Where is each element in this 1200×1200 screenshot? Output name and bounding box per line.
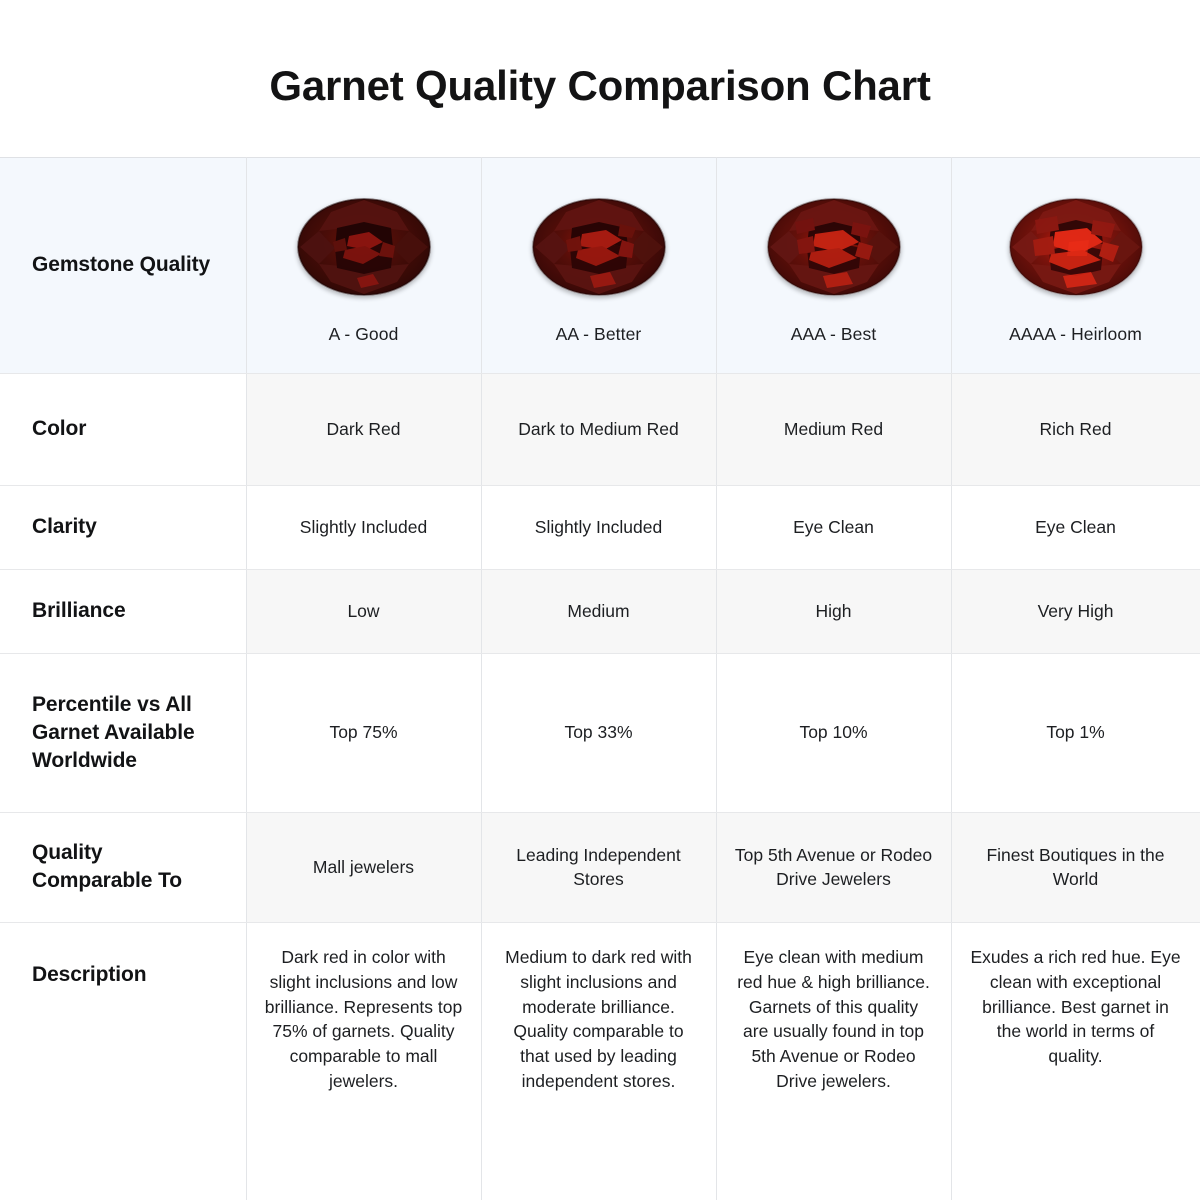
cell-brilliance-a: Low <box>246 569 481 653</box>
cell-comparable-aaa: Top 5th Avenue or Rodeo Drive Jewelers <box>716 812 951 922</box>
cell-comparable-aa: Leading Independent Stores <box>481 812 716 922</box>
cell-clarity-aa: Slightly Included <box>481 485 716 569</box>
gem-label-a-good: A - Good <box>329 322 399 347</box>
cell-description-aaaa: Exudes a rich red hue. Eye clean with ex… <box>951 922 1200 1200</box>
gem-cell-aa-better: AA - Better <box>481 158 716 374</box>
cell-brilliance-aaa: High <box>716 569 951 653</box>
gem-cell-aaa-best: AAA - Best <box>716 158 951 374</box>
gem-cell-aaaa-heirloom: AAAA - Heirloom <box>951 158 1200 374</box>
cell-color-a: Dark Red <box>246 373 481 485</box>
cell-description-aaa: Eye clean with medium red hue & high bri… <box>716 922 951 1200</box>
cell-color-aaa: Medium Red <box>716 373 951 485</box>
row-label-brilliance: Brilliance <box>0 569 246 653</box>
page-title-container: Garnet Quality Comparison Chart <box>0 0 1200 157</box>
oval-garnet-a-good-icon <box>297 198 431 296</box>
cell-clarity-a: Slightly Included <box>246 485 481 569</box>
cell-description-a: Dark red in color with slight inclusions… <box>246 922 481 1200</box>
table-row-clarity: Clarity Slightly Included Slightly Inclu… <box>0 485 1200 569</box>
cell-color-aa: Dark to Medium Red <box>481 373 716 485</box>
table-row-quality-comparable-to: Quality Comparable To Mall jewelers Lead… <box>0 812 1200 922</box>
page-title: Garnet Quality Comparison Chart <box>269 48 930 110</box>
row-label-gemstone-quality: Gemstone Quality <box>0 158 246 374</box>
cell-percentile-a: Top 75% <box>246 653 481 812</box>
cell-percentile-aa: Top 33% <box>481 653 716 812</box>
row-label-description: Description <box>0 922 246 1200</box>
cell-description-aa: Medium to dark red with slight inclusion… <box>481 922 716 1200</box>
cell-brilliance-aaaa: Very High <box>951 569 1200 653</box>
table-row-brilliance: Brilliance Low Medium High Very High <box>0 569 1200 653</box>
table-row-percentile: Percentile vs All Garnet Available World… <box>0 653 1200 812</box>
cell-percentile-aaa: Top 10% <box>716 653 951 812</box>
cell-clarity-aaa: Eye Clean <box>716 485 951 569</box>
cell-clarity-aaaa: Eye Clean <box>951 485 1200 569</box>
oval-garnet-aaa-best-icon <box>767 198 901 296</box>
gem-label-aa-better: AA - Better <box>556 322 642 347</box>
gem-label-aaaa-heirloom: AAAA - Heirloom <box>1009 322 1142 347</box>
table-row-color: Color Dark Red Dark to Medium Red Medium… <box>0 373 1200 485</box>
table-row-description: Description Dark red in color with sligh… <box>0 922 1200 1200</box>
oval-garnet-aa-better-icon <box>532 198 666 296</box>
row-label-quality-comparable-to: Quality Comparable To <box>0 812 246 922</box>
oval-garnet-aaaa-heirloom-icon <box>1009 198 1143 296</box>
gem-label-aaa-best: AAA - Best <box>791 322 877 347</box>
cell-percentile-aaaa: Top 1% <box>951 653 1200 812</box>
cell-comparable-aaaa: Finest Boutiques in the World <box>951 812 1200 922</box>
row-label-clarity: Clarity <box>0 485 246 569</box>
cell-brilliance-aa: Medium <box>481 569 716 653</box>
cell-comparable-a: Mall jewelers <box>246 812 481 922</box>
gem-cell-a-good: A - Good <box>246 158 481 374</box>
row-label-percentile: Percentile vs All Garnet Available World… <box>0 653 246 812</box>
garnet-comparison-table: Gemstone Quality <box>0 157 1200 1200</box>
table-row-gemstone-quality: Gemstone Quality <box>0 158 1200 374</box>
cell-color-aaaa: Rich Red <box>951 373 1200 485</box>
garnet-quality-chart-page: Garnet Quality Comparison Chart Gemstone… <box>0 0 1200 1200</box>
row-label-color: Color <box>0 373 246 485</box>
